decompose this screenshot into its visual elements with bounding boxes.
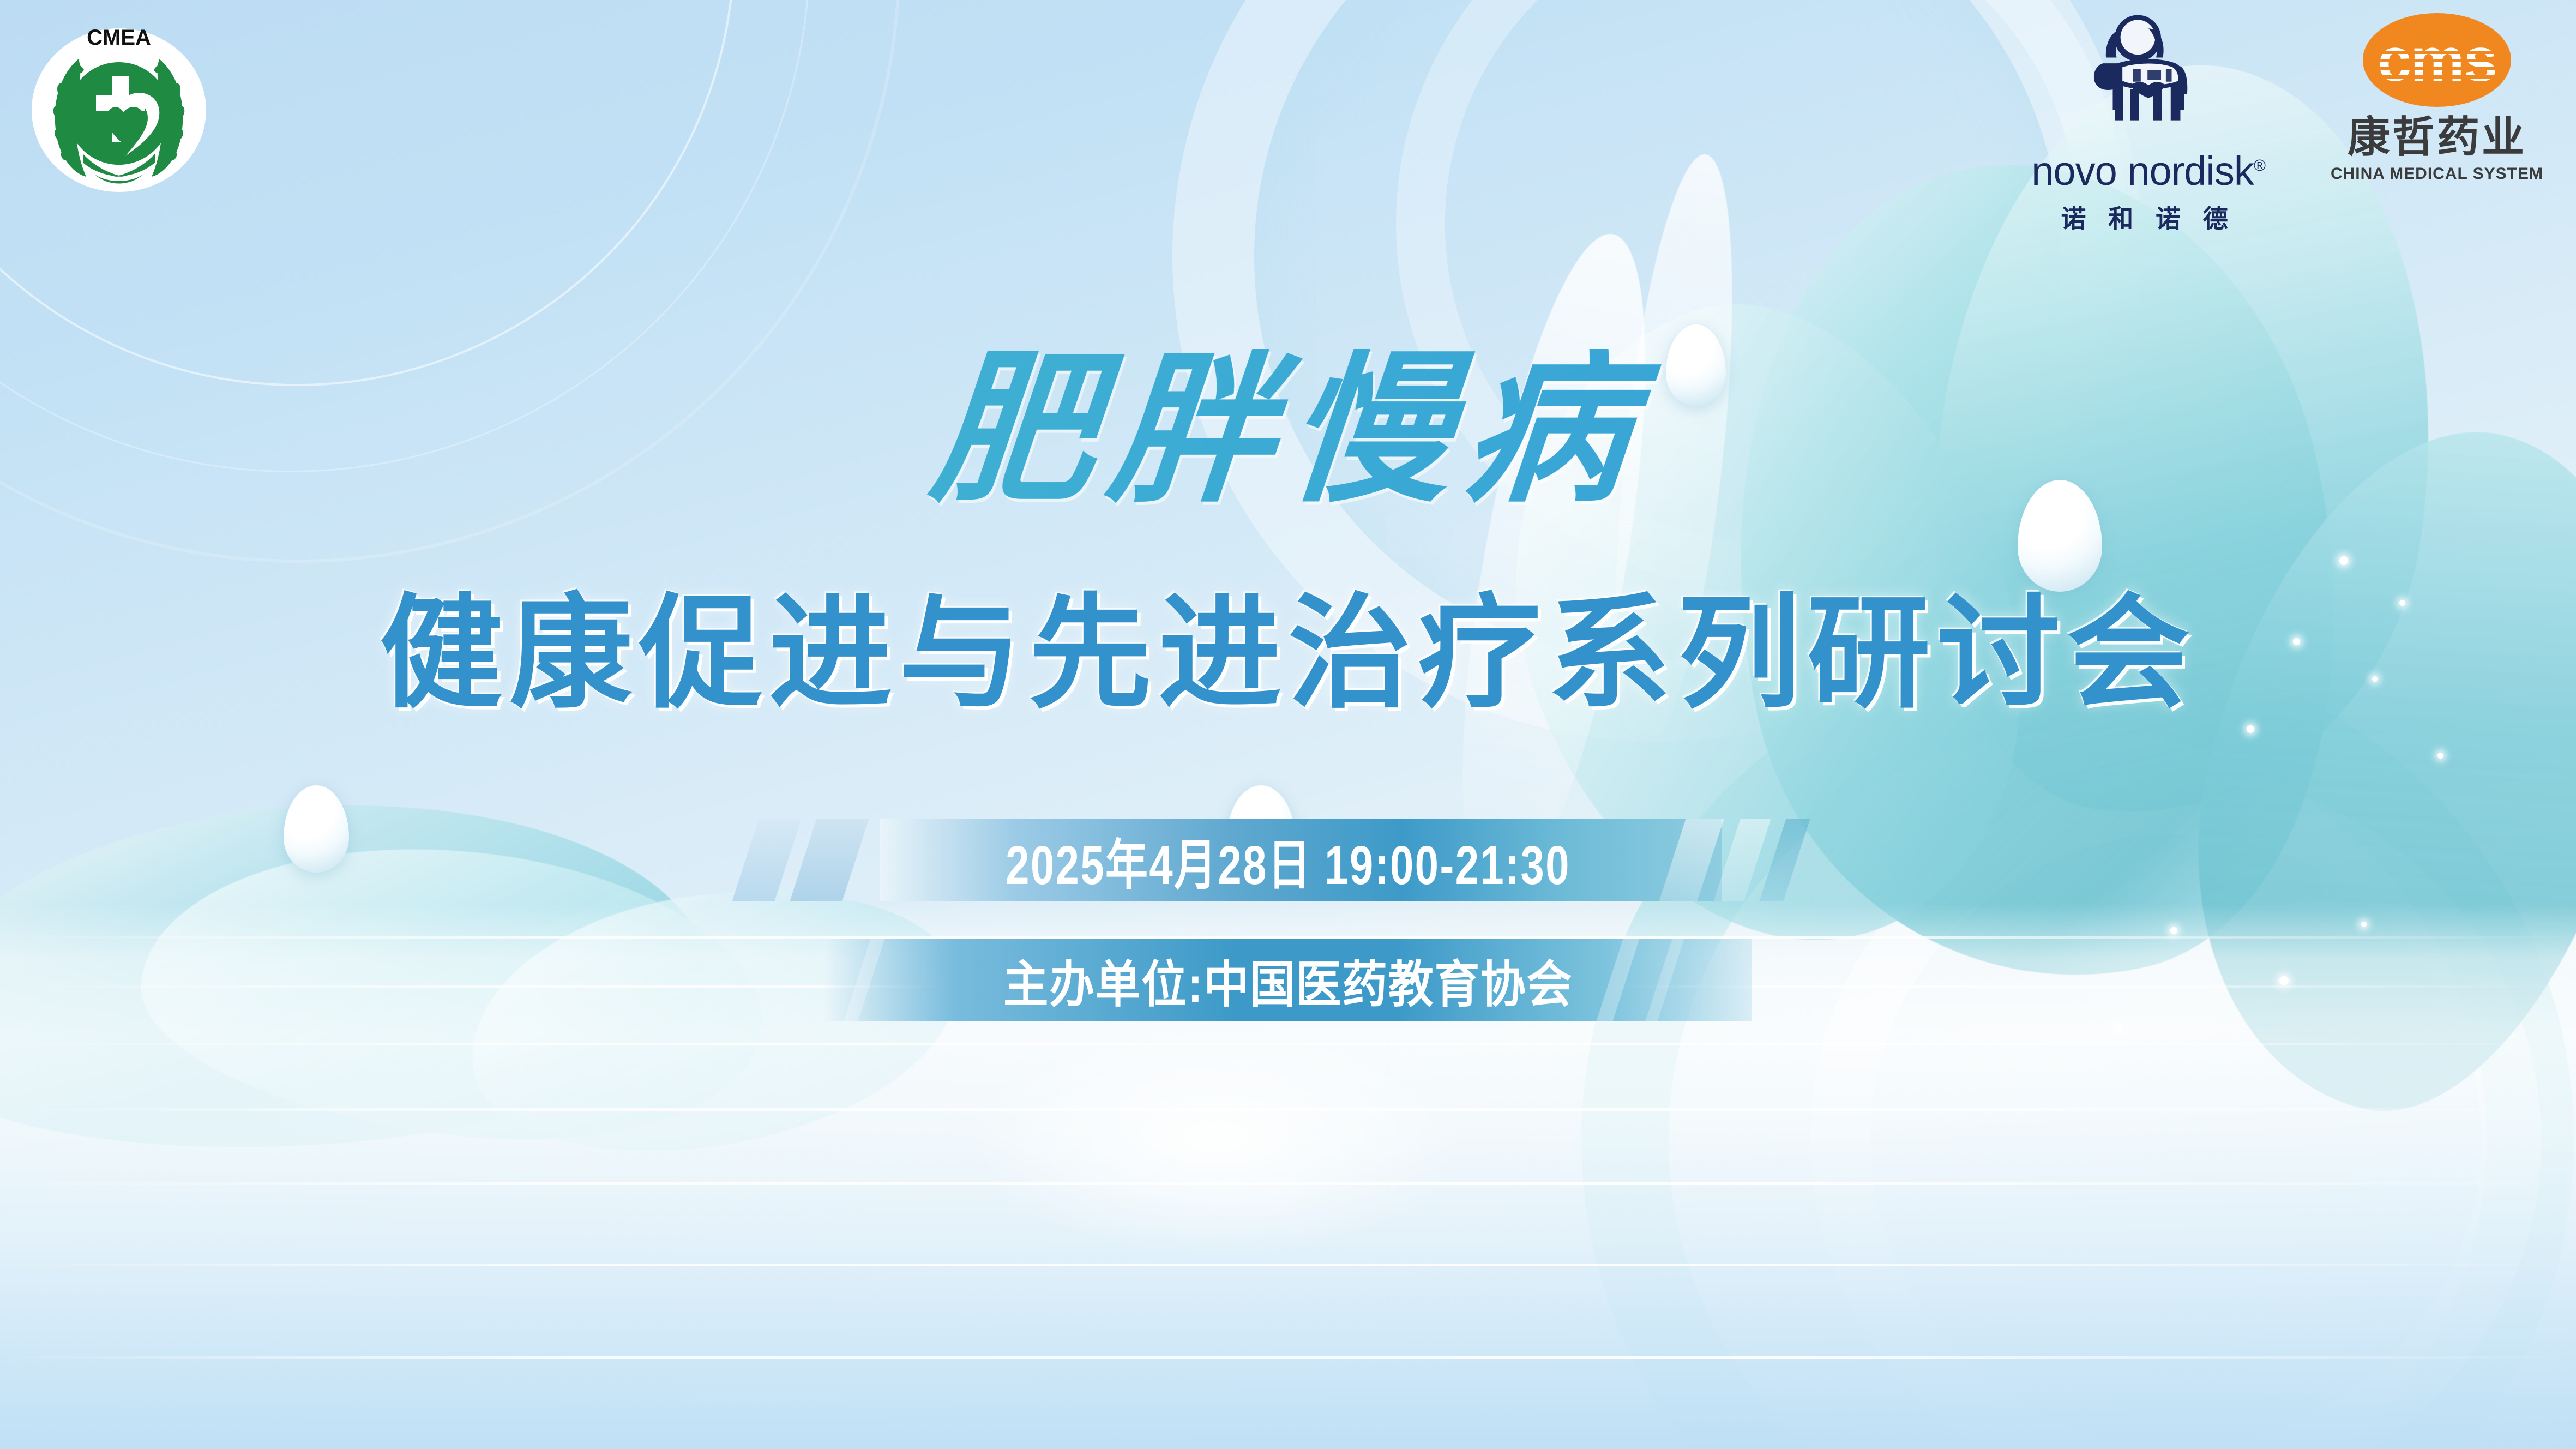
event-datetime: 2025年4月28日 19:00-21:30 (865, 819, 1711, 901)
organizer-band: 主办单位:中国医药教育协会 (824, 939, 1752, 1021)
floor-glow (971, 1025, 1461, 1254)
background-ring (1581, 644, 2574, 1449)
organizer-name: 主办单位:中国医药教育协会 (871, 939, 1705, 1021)
background-ribbon (1425, 222, 1682, 912)
sparkle-dot (2247, 725, 2254, 733)
page-title: 肥胖慢病 (0, 349, 2576, 513)
cms-english-name: CHINA MEDICAL SYSTEM (2331, 165, 2543, 183)
sparkle-dot (2279, 976, 2289, 985)
sparkle-dot (2339, 556, 2348, 565)
sparkle-dot (2116, 1025, 2122, 1032)
novo-nordisk-chinese-name: 诺 和 诺 德 (2061, 199, 2235, 235)
background-ribbon (129, 819, 777, 1166)
background-ring (1810, 774, 2541, 1449)
band-slash-decoration (1760, 819, 1810, 901)
novo-nordisk-wordmark: novo nordisk® (2031, 151, 2265, 191)
sparkle-dot (2361, 922, 2367, 927)
band-slash-decoration (1714, 819, 1771, 901)
event-banner: CMEA (0, 0, 2576, 1449)
novo-nordisk-logo: novo nordisk® 诺 和 诺 德 (2031, 13, 2265, 235)
svg-text:CMEA: CMEA (87, 26, 151, 50)
cms-wordmark: cms (2378, 29, 2496, 91)
registered-trademark-icon: ® (2254, 157, 2265, 175)
cms-logo: cms 康哲药业 CHINA MEDICAL SYSTEM (2331, 13, 2543, 183)
sparkle-dot (2437, 753, 2443, 759)
event-datetime-band: 2025年4月28日 19:00-21:30 (745, 819, 1831, 901)
partner-logos: novo nordisk® 诺 和 诺 德 cms 康哲药业 CHINA MED… (2031, 13, 2543, 235)
pearl-sphere (284, 785, 349, 873)
cms-chinese-name: 康哲药业 (2348, 116, 2526, 158)
cmea-logo: CMEA (26, 13, 212, 199)
orange-oval-cms-icon: cms (2363, 13, 2511, 107)
apis-bull-icon (2076, 13, 2221, 151)
sparkle-dot (2170, 927, 2177, 934)
band-slash-decoration (790, 819, 869, 901)
band-slash-decoration (732, 819, 802, 901)
page-subtitle: 健康促进与先进治疗系列研讨会 (0, 592, 2576, 715)
background-ribbon (0, 779, 720, 1173)
